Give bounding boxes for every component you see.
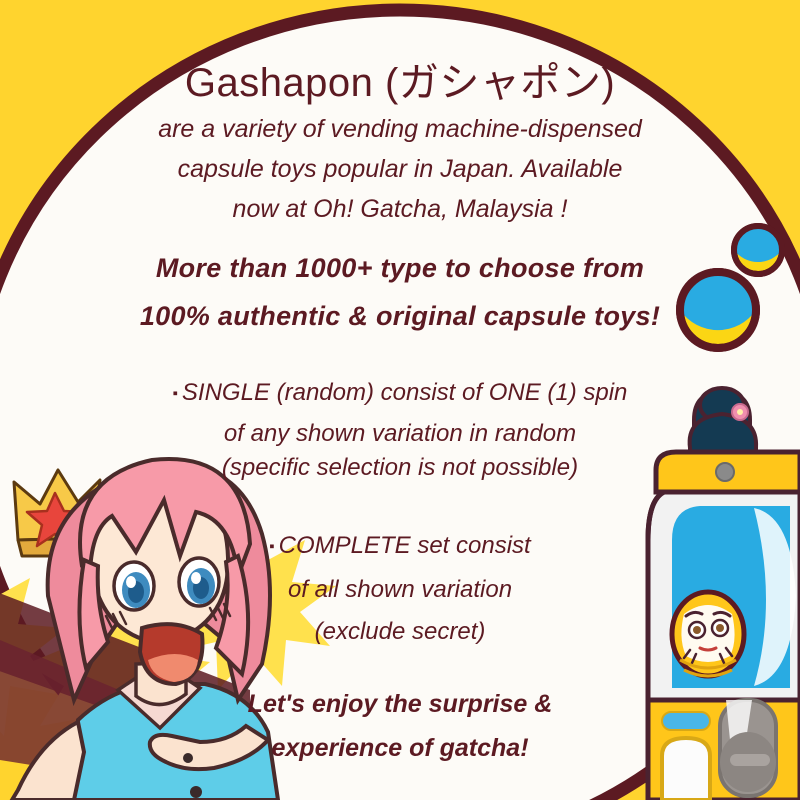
bullet-complete-line-1: ▪COMPLETE set consist	[0, 534, 800, 558]
bullet-single-line-3: (specific selection is not possible)	[0, 456, 800, 480]
bullet-single-line-2: of any shown variation in random	[0, 422, 800, 446]
bullet-single-text-1: SINGLE (random) consist of ONE (1) spin	[182, 379, 627, 406]
closing-line-1: Let's enjoy the surprise &	[0, 692, 800, 717]
bullet-complete-text-1: COMPLETE set consist	[279, 532, 531, 559]
page-title: Gashapon (ガシャポン)	[0, 63, 800, 103]
bullet-complete-line-3: (exclude secret)	[0, 620, 800, 644]
bullet-marker-icon-2: ▪	[269, 538, 278, 555]
highlight-line-1: More than 1000+ type to choose from	[0, 255, 800, 282]
header-subtitle-line-1: are a variety of vending machine-dispens…	[0, 117, 800, 142]
poster-canvas: Gashapon (ガシャポン) are a variety of vendin…	[0, 0, 800, 800]
highlight-line-2: 100% authentic & original capsule toys!	[0, 303, 800, 330]
header-subtitle-line-2: capsule toys popular in Japan. Available	[0, 157, 800, 182]
bullet-marker-icon: ▪	[173, 385, 182, 402]
bullet-single-line-1: ▪SINGLE (random) consist of ONE (1) spin	[0, 381, 800, 405]
text-content: Gashapon (ガシャポン) are a variety of vendin…	[0, 0, 800, 800]
bullet-complete-line-2: of all shown variation	[0, 578, 800, 602]
header-subtitle-line-3: now at Oh! Gatcha, Malaysia !	[0, 197, 800, 222]
closing-line-2: experience of gatcha!	[0, 736, 800, 761]
